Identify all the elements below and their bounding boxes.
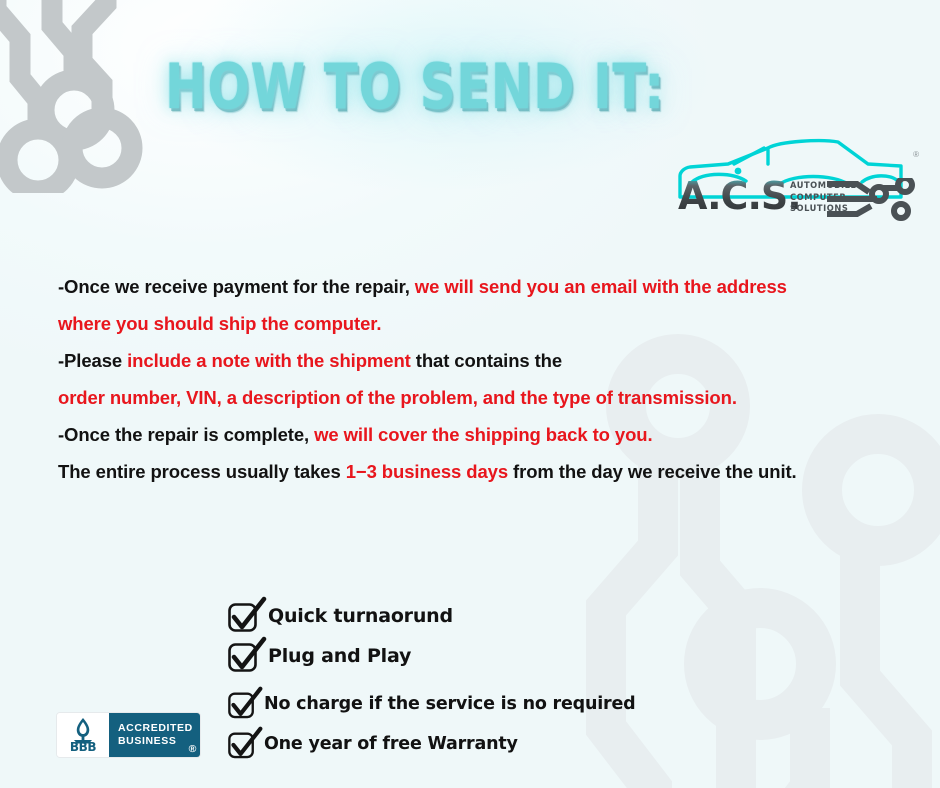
checkbox-checked-icon (226, 596, 270, 636)
page-title: HOW TO SEND IT: (83, 52, 747, 122)
checkbox-checked-icon (226, 686, 266, 722)
body-seg-5-1: -Once the repair is complete, (58, 424, 314, 445)
body-line-6: The entire process usually takes 1−3 bus… (58, 453, 898, 490)
body-seg-5-2: we will cover the shipping back to you. (314, 424, 652, 445)
body-seg-6-1: The entire process usually takes (58, 461, 346, 482)
body-line-2: where you should ship the computer. (58, 305, 898, 342)
acs-logo: ® A.C.S. AUTOMOBILE COMPUTER SOLUTIONS (672, 128, 920, 234)
registered-mark: ® (913, 151, 919, 159)
checklist-item-quick-turnaround: Quick turnaorund (226, 596, 635, 636)
body-seg-6-3: from the day we receive the unit. (508, 461, 797, 482)
body-line-4: order number, VIN, a description of the … (58, 379, 898, 416)
benefits-checklist: Quick turnaorund Plug and Play No charge… (226, 596, 635, 764)
body-seg-4-1: order number, VIN, a description of the … (58, 387, 737, 408)
logo-circuit-icon (827, 178, 919, 226)
body-line-1: -Once we receive payment for the repair,… (58, 268, 898, 305)
body-line-3: -Please include a note with the shipment… (58, 342, 898, 379)
logo-brand: A.C.S. (678, 176, 801, 216)
body-copy: -Once we receive payment for the repair,… (58, 268, 898, 490)
body-seg-3-2: include a note with the shipment (127, 350, 411, 371)
checklist-item-label: No charge if the service is no required (264, 693, 635, 715)
checkbox-checked-icon (226, 726, 266, 762)
checklist-item-label: Plug and Play (268, 645, 411, 667)
checklist-item-plug-and-play: Plug and Play (226, 636, 635, 676)
body-line-5: -Once the repair is complete, we will co… (58, 416, 898, 453)
body-seg-6-2: 1−3 business days (346, 461, 508, 482)
checklist-item-label: Quick turnaorund (268, 605, 453, 627)
title-glow (150, 0, 710, 190)
checklist-item-label: One year of free Warranty (264, 733, 518, 755)
checklist-item-warranty: One year of free Warranty (226, 724, 635, 764)
flyer-page: HOW TO SEND IT: ® A.C.S. AUTOMOBILE COMP… (0, 0, 940, 788)
body-seg-3-3: that contains the (411, 350, 562, 371)
bbb-line-1: ACCREDITED (118, 722, 200, 735)
body-seg-1-2: we will send you an email with the addre… (415, 276, 787, 297)
circuit-decoration-top-left (0, 0, 206, 193)
checkbox-checked-icon (226, 636, 270, 676)
bbb-logo-panel: BBB (57, 713, 109, 757)
body-seg-2-1: where you should ship the computer. (58, 313, 381, 334)
bbb-mark-text: BBB (57, 740, 109, 754)
bbb-accredited-business-badge[interactable]: BBB ACCREDITED BUSINESS ® (56, 712, 201, 758)
checklist-item-no-charge: No charge if the service is no required (226, 684, 635, 724)
bbb-registered-mark: ® (189, 743, 197, 756)
body-seg-3-1: -Please (58, 350, 127, 371)
bbb-text-panel: ACCREDITED BUSINESS ® (109, 713, 200, 757)
body-seg-1-1: -Once we receive payment for the repair, (58, 276, 415, 297)
